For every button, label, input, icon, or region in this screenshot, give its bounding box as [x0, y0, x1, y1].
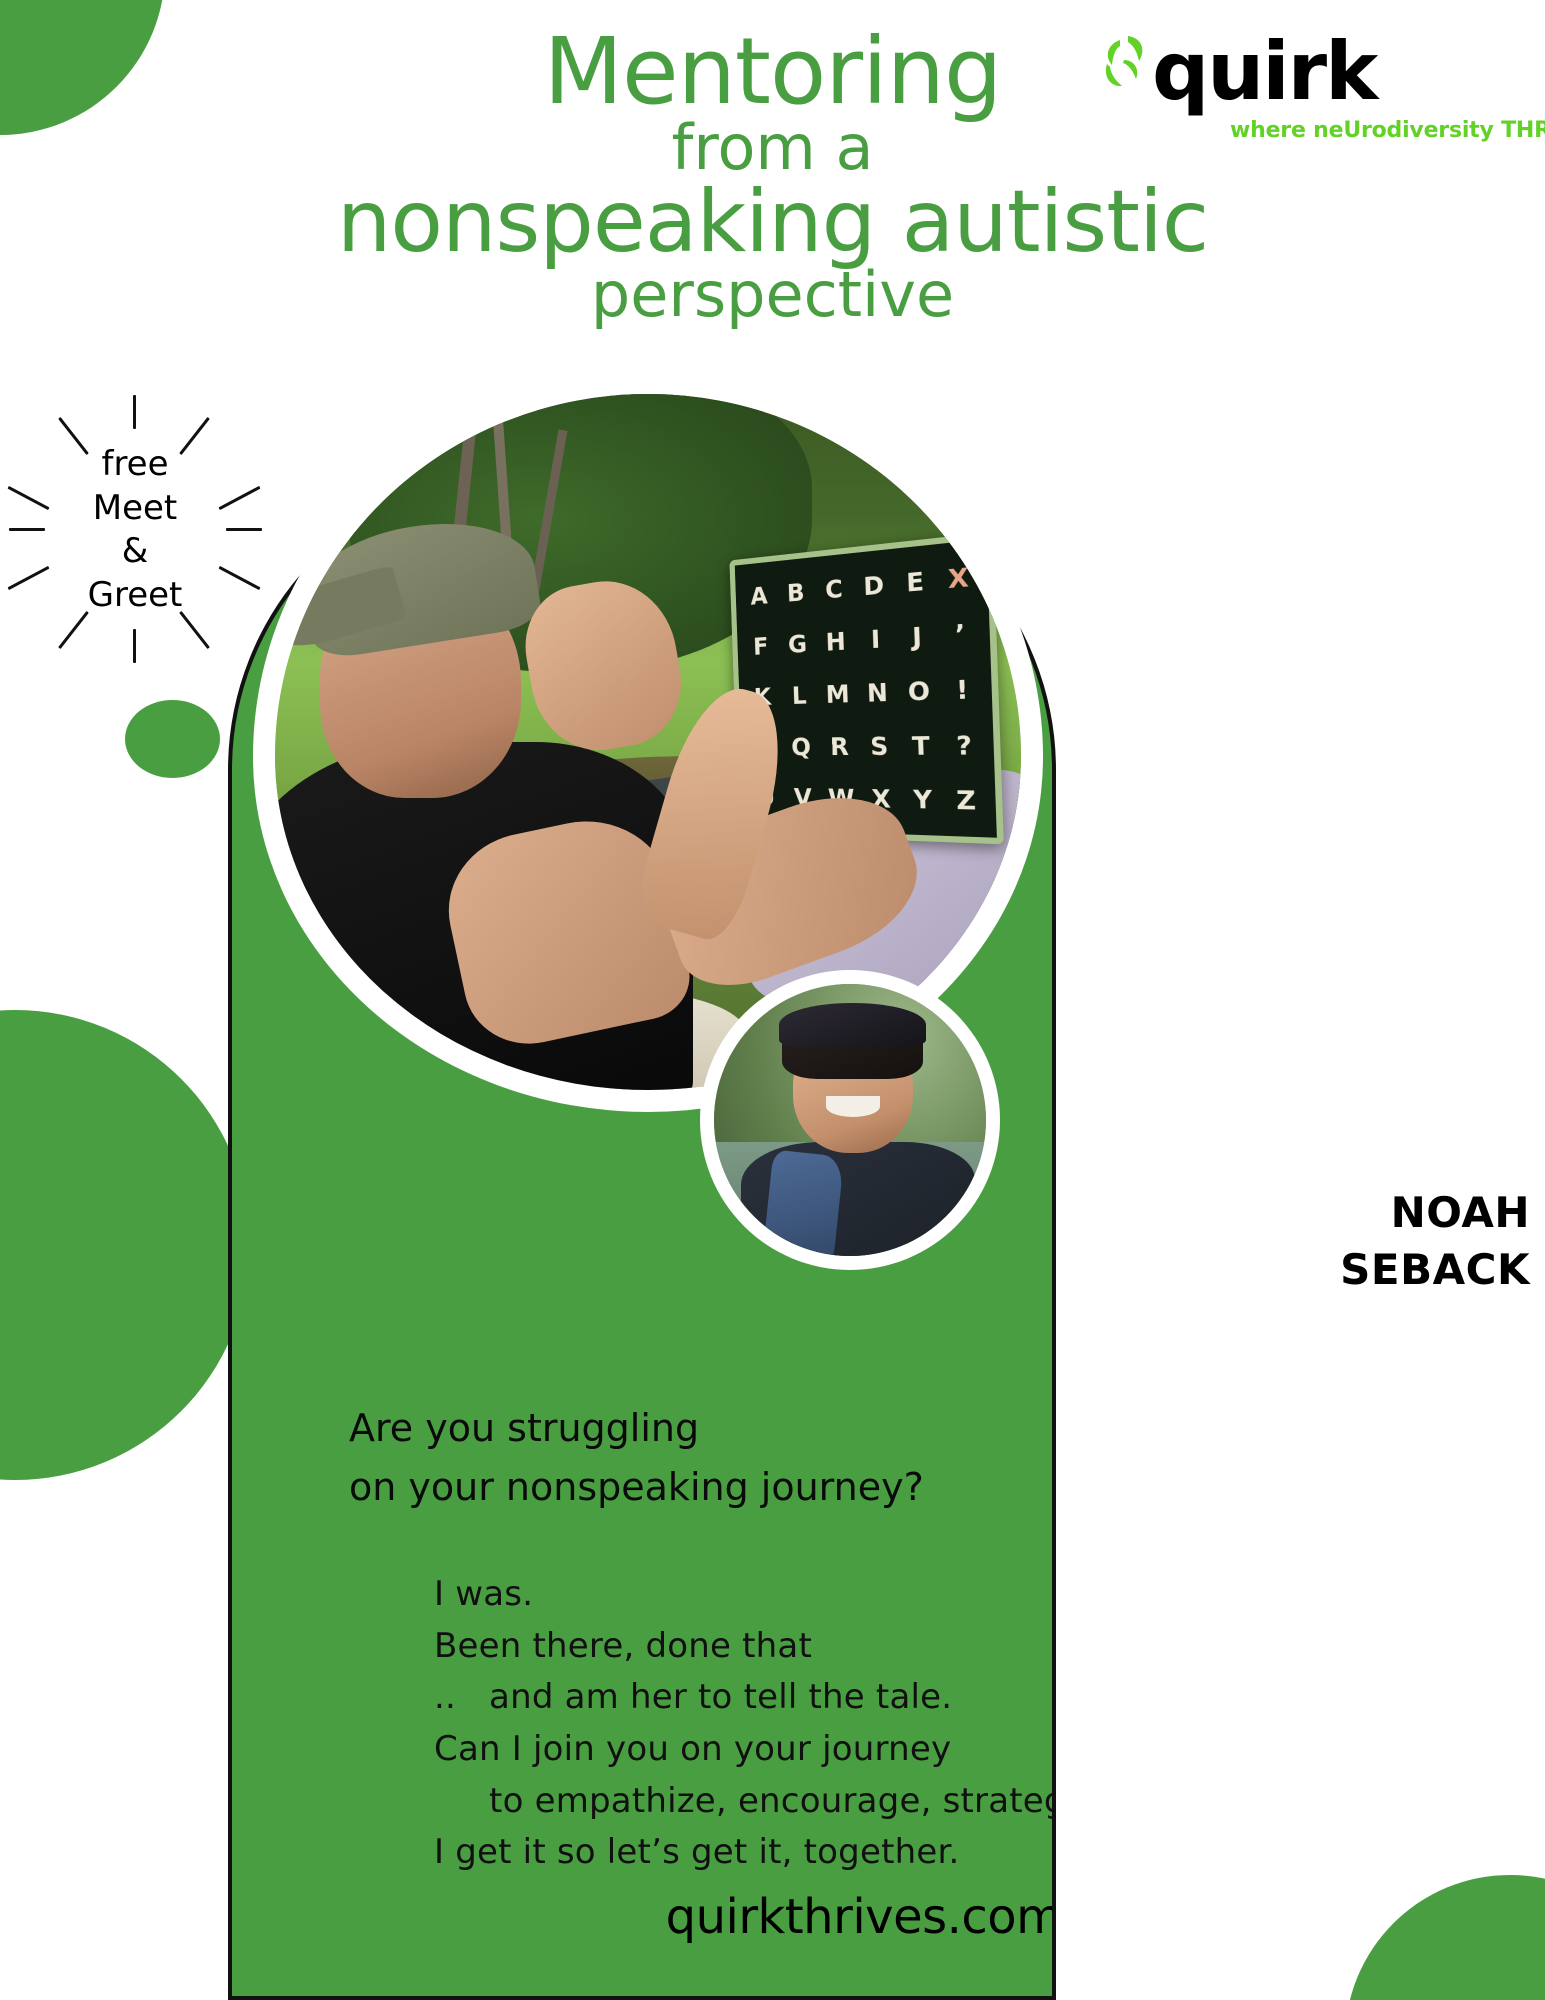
letterboard-cell: Q: [790, 734, 810, 758]
burst-ray: [133, 395, 136, 429]
letterboard-cell: Y: [912, 787, 932, 813]
title-line-4: perspective: [0, 266, 1545, 325]
letterboard-cell: E: [905, 568, 924, 595]
badge-line-3: &: [122, 531, 149, 571]
letterboard-cell: S: [869, 733, 888, 758]
letterboard-cell: J: [911, 623, 922, 649]
letterboard-cell: !: [955, 676, 968, 703]
poem-line: Can I join you on your journey: [434, 1724, 1054, 1776]
decor-circle-bottom-right: [1345, 1875, 1545, 2000]
headline-question: Are you struggling on your nonspeaking j…: [349, 1399, 989, 1517]
logo-tagline: where neUrodiversity THRIVEs: [1230, 118, 1545, 143]
letterboard-cell: A: [750, 583, 768, 608]
letterboard-cell: H: [825, 629, 846, 655]
free-meet-greet-badge: free Meet & Greet: [10, 395, 260, 660]
logo-wordmark: quirk: [1152, 32, 1376, 112]
website-url[interactable]: quirkthrives.com: [604, 1889, 1056, 1945]
letterboard-cell: L: [791, 683, 807, 708]
letterboard-cell: ’: [954, 620, 965, 647]
portrait-life-vest: [763, 1149, 844, 1256]
poem-line: I get it so let’s get it, together.: [434, 1827, 1054, 1879]
presenter-name: NOAH SEBACK: [1320, 1185, 1530, 1298]
quirk-logo[interactable]: quirk where neUrodiversity THRIVEs: [1090, 22, 1520, 152]
badge-text: free Meet & Greet: [10, 443, 260, 617]
badge-line-4: Greet: [88, 575, 183, 615]
letterboard-cell: O: [907, 678, 930, 705]
burst-ray: [133, 629, 136, 663]
letterboard-cell: R: [829, 734, 848, 759]
poster-header: Mentoring from a nonspeaking autistic pe…: [0, 0, 1545, 360]
poem-line: .. and am her to tell the tale.: [434, 1672, 1054, 1724]
headline-line-1: Are you struggling: [349, 1399, 989, 1458]
decor-circle-small-left: [125, 700, 220, 778]
badge-line-2: Meet: [93, 488, 178, 528]
title-line-3: nonspeaking autistic: [0, 182, 1545, 264]
letterboard-cell: T: [911, 733, 930, 759]
letterboard-cell: G: [787, 631, 807, 656]
portrait-photo-frame: [700, 970, 1000, 1270]
poem-line: to empathize, encourage, strategize?: [434, 1776, 1054, 1828]
poem-line: Been there, done that: [434, 1621, 1054, 1673]
letterboard-cell: C: [824, 576, 842, 602]
poem-line: I was.: [434, 1569, 1054, 1621]
noah-seback-portrait-photo: [714, 984, 986, 1256]
letterboard-cell: F: [752, 634, 768, 659]
poster-canvas: Mentoring from a nonspeaking autistic pe…: [0, 0, 1545, 2000]
headline-line-2: on your nonspeaking journey?: [349, 1458, 989, 1517]
letterboard-cell: X: [947, 564, 969, 592]
body-poem: I was. Been there, done that .. and am h…: [434, 1569, 1054, 1879]
portrait-cap: [779, 1003, 926, 1047]
letterboard-cell: B: [786, 580, 804, 606]
decor-circle-large-left: [0, 1010, 250, 1480]
presenter-first-name: NOAH: [1320, 1185, 1530, 1242]
letterboard-cell: D: [863, 572, 885, 599]
badge-line-1: free: [101, 444, 168, 484]
presenter-last-name: SEBACK: [1320, 1242, 1530, 1299]
letterboard-cell: N: [866, 679, 888, 705]
letterboard-cell: ?: [955, 732, 972, 758]
letterboard-cell: Z: [955, 788, 976, 815]
letterboard-cell: I: [870, 626, 880, 652]
letterboard-cell: M: [825, 681, 850, 707]
